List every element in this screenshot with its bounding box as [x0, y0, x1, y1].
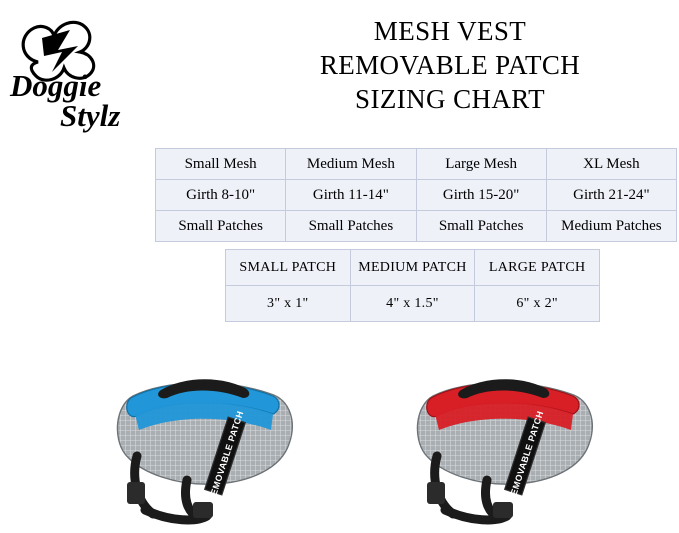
- mesh-size-name: Small Mesh: [156, 149, 286, 180]
- brand-logo: Doggie Stylz: [8, 6, 208, 136]
- product-image-red-vest: REMOVABLE PATCH: [375, 360, 635, 528]
- patch-dimension: 3" x 1": [226, 286, 351, 322]
- mesh-patch-size: Small Patches: [416, 211, 546, 242]
- red-vest-illustration: REMOVABLE PATCH: [375, 360, 635, 528]
- mesh-girth-value: Girth 21-24": [546, 180, 676, 211]
- table-row: SMALL PATCH MEDIUM PATCH LARGE PATCH: [226, 250, 600, 286]
- title-line-2: REMOVABLE PATCH: [230, 48, 670, 82]
- mesh-size-name: Large Mesh: [416, 149, 546, 180]
- brand-name-line2: Stylz: [60, 98, 120, 133]
- patch-dimension: 6" x 2": [475, 286, 600, 322]
- title-line-3: SIZING CHART: [230, 82, 670, 116]
- table-row: 3" x 1" 4" x 1.5" 6" x 2": [226, 286, 600, 322]
- table-row: Small Mesh Medium Mesh Large Mesh XL Mes…: [156, 149, 677, 180]
- header: Doggie Stylz MESH VEST REMOVABLE PATCH S…: [0, 0, 679, 140]
- page-title: MESH VEST REMOVABLE PATCH SIZING CHART: [230, 14, 670, 116]
- table-row: Small Patches Small Patches Small Patche…: [156, 211, 677, 242]
- mesh-patch-size: Small Patches: [156, 211, 286, 242]
- mesh-size-table: Small Mesh Medium Mesh Large Mesh XL Mes…: [155, 148, 677, 242]
- patch-size-table: SMALL PATCH MEDIUM PATCH LARGE PATCH 3" …: [225, 249, 600, 322]
- mesh-girth-value: Girth 11-14": [286, 180, 416, 211]
- mesh-patch-size: Small Patches: [286, 211, 416, 242]
- blue-vest-illustration: REMOVABLE PATCH: [75, 360, 335, 528]
- mesh-size-name: XL Mesh: [546, 149, 676, 180]
- product-image-blue-vest: REMOVABLE PATCH: [75, 360, 335, 528]
- product-photo-strip: REMOVABLE PATCH REMOVABLE PATCH: [0, 348, 679, 532]
- title-line-1: MESH VEST: [230, 14, 670, 48]
- mesh-size-name: Medium Mesh: [286, 149, 416, 180]
- patch-name: LARGE PATCH: [475, 250, 600, 286]
- patch-name: MEDIUM PATCH: [350, 250, 475, 286]
- dog-bone-logo-icon: Doggie Stylz: [8, 6, 208, 136]
- mesh-girth-value: Girth 8-10": [156, 180, 286, 211]
- mesh-girth-value: Girth 15-20": [416, 180, 546, 211]
- table-row: Girth 8-10" Girth 11-14" Girth 15-20" Gi…: [156, 180, 677, 211]
- patch-name: SMALL PATCH: [226, 250, 351, 286]
- patch-dimension: 4" x 1.5": [350, 286, 475, 322]
- mesh-patch-size: Medium Patches: [546, 211, 676, 242]
